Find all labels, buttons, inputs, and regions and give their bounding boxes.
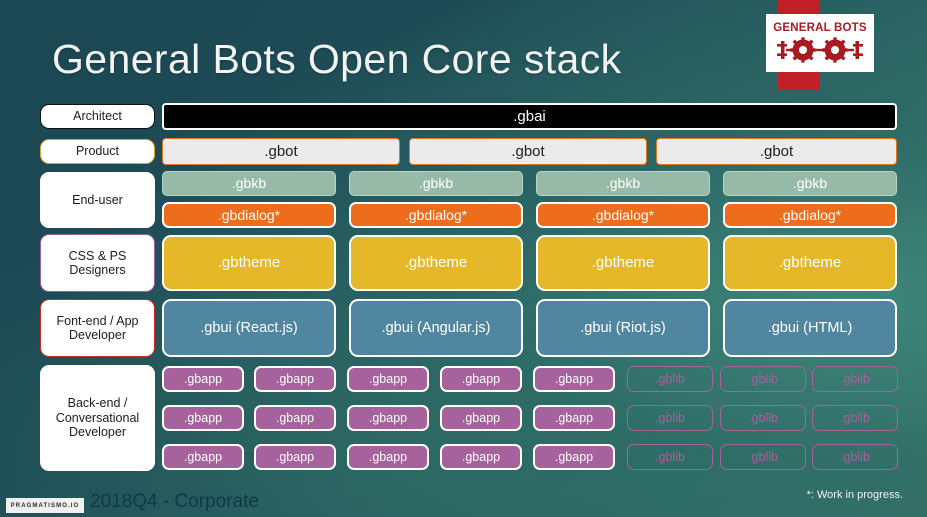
tier-label: .gbdialog* [218, 207, 280, 223]
tier-label: .gbapp [369, 411, 407, 425]
tier-label: .gbtheme [405, 254, 468, 271]
role-label-text: Back-end /ConversationalDeveloper [56, 396, 139, 439]
tier-gbui-riot: .gbui (Riot.js) [536, 299, 710, 357]
tier-label: .gbapp [184, 450, 222, 464]
tier-gbdialog: .gbdialog* [162, 202, 336, 228]
tier-label: .gbkb [419, 175, 453, 191]
tier-label: .gbai [513, 108, 546, 125]
tier-label: .gblib [655, 450, 685, 464]
general-bots-logo: GENERAL BOTS [766, 14, 874, 72]
tier-gbapp: .gbapp [533, 444, 615, 470]
tier-gbtheme: .gbtheme [536, 235, 710, 291]
tier-label: .gbapp [276, 372, 314, 386]
tier-label: .gbui (HTML) [768, 320, 853, 337]
tier-gbui-html: .gbui (HTML) [723, 299, 897, 357]
tier-label: .gblib [748, 372, 778, 386]
tier-label: .gbot [264, 143, 297, 160]
tier-label: .gbkb [232, 175, 266, 191]
tier-gblib: .gblib [627, 405, 713, 431]
tier-gbtheme: .gbtheme [723, 235, 897, 291]
tier-label: .gblib [655, 411, 685, 425]
role-label-text: Font-end / AppDeveloper [56, 314, 138, 343]
role-label-text: CSS & PSDesigners [69, 249, 127, 278]
tier-label: .gbapp [462, 411, 500, 425]
tier-gbapp: .gbapp [347, 405, 429, 431]
tier-gbot: .gbot [656, 138, 897, 165]
logo-wordmark: GENERAL BOTS [773, 23, 867, 35]
role-label-backend-conversational-developer: Back-end /ConversationalDeveloper [40, 365, 155, 471]
tier-label: .gbui (React.js) [200, 320, 298, 337]
tier-gbkb: .gbkb [536, 171, 710, 196]
tier-gbapp: .gbapp [347, 444, 429, 470]
role-label-architect: Architect [40, 104, 155, 129]
tier-gblib: .gblib [720, 366, 806, 392]
tier-gbapp: .gbapp [162, 366, 244, 392]
tier-gbapp: .gbapp [440, 366, 522, 392]
tier-gbui-react: .gbui (React.js) [162, 299, 336, 357]
tier-gbui-angular: .gbui (Angular.js) [349, 299, 523, 357]
tier-gbapp: .gbapp [440, 405, 522, 431]
tier-label: .gbapp [369, 372, 407, 386]
tier-label: .gbtheme [592, 254, 655, 271]
slide-canvas: GENERAL BOTS [0, 0, 927, 517]
tier-gbdialog: .gbdialog* [723, 202, 897, 228]
tier-label: .gbot [760, 143, 793, 160]
tier-gblib: .gblib [812, 366, 898, 392]
tier-label: .gblib [655, 372, 685, 386]
tier-label: .gbapp [369, 450, 407, 464]
role-label-product: Product [40, 139, 155, 164]
tier-label: .gblib [840, 411, 870, 425]
page-title: General Bots Open Core stack [52, 36, 622, 83]
tier-label: .gbkb [793, 175, 827, 191]
tier-gblib: .gblib [627, 444, 713, 470]
footer-label: 2018Q4 - Corporate [90, 491, 259, 513]
pragmatismo-logo: PRAGMATISMO.IO [6, 498, 84, 513]
tier-label: .gbapp [555, 450, 593, 464]
tier-label: .gblib [840, 372, 870, 386]
tier-label: .gbdialog* [779, 207, 841, 223]
tier-gblib: .gblib [720, 405, 806, 431]
tier-gbapp: .gbapp [347, 366, 429, 392]
tier-gbtheme: .gbtheme [162, 235, 336, 291]
tier-gbapp: .gbapp [254, 405, 336, 431]
tier-label: .gblib [748, 450, 778, 464]
tier-gblib: .gblib [812, 444, 898, 470]
tier-label: .gbtheme [218, 254, 281, 271]
tier-label: .gbapp [184, 411, 222, 425]
tier-gblib: .gblib [812, 405, 898, 431]
tier-gbapp: .gbapp [440, 444, 522, 470]
tier-gbapp: .gbapp [162, 444, 244, 470]
tier-label: .gbapp [276, 411, 314, 425]
tier-label: .gblib [748, 411, 778, 425]
tier-gbapp: .gbapp [254, 366, 336, 392]
tier-label: .gbdialog* [405, 207, 467, 223]
role-label-text: Product [76, 144, 119, 158]
tier-gbkb: .gbkb [349, 171, 523, 196]
gears-icon [777, 37, 863, 63]
role-label-css-ps-designers: CSS & PSDesigners [40, 234, 155, 292]
tier-label: .gbui (Riot.js) [580, 320, 665, 337]
tier-gbot: .gbot [162, 138, 400, 165]
tier-gbapp: .gbapp [254, 444, 336, 470]
role-label-end-user: End-user [40, 172, 155, 228]
tier-gbai: .gbai [162, 103, 897, 130]
tier-label: .gblib [840, 450, 870, 464]
tier-label: .gbapp [462, 450, 500, 464]
tier-label: .gbapp [184, 372, 222, 386]
work-in-progress-note: *: Work in progress. [807, 489, 903, 501]
tier-gbkb: .gbkb [162, 171, 336, 196]
tier-gbdialog: .gbdialog* [536, 202, 710, 228]
role-label-frontend-app-developer: Font-end / AppDeveloper [40, 299, 155, 357]
tier-gbot: .gbot [409, 138, 647, 165]
role-label-text: Architect [73, 109, 122, 123]
tier-label: .gbot [511, 143, 544, 160]
tier-gbkb: .gbkb [723, 171, 897, 196]
tier-gbdialog: .gbdialog* [349, 202, 523, 228]
pragmatismo-wordmark: PRAGMATISMO.IO [11, 503, 80, 509]
tier-label: .gbapp [555, 372, 593, 386]
tier-gbapp: .gbapp [533, 405, 615, 431]
tier-gbtheme: .gbtheme [349, 235, 523, 291]
tier-gblib: .gblib [720, 444, 806, 470]
tier-gbapp: .gbapp [162, 405, 244, 431]
tier-label: .gbui (Angular.js) [382, 320, 491, 337]
tier-label: .gbtheme [779, 254, 842, 271]
tier-label: .gbapp [462, 372, 500, 386]
tier-label: .gbapp [276, 450, 314, 464]
role-label-text: End-user [72, 193, 123, 207]
tier-gbapp: .gbapp [533, 366, 615, 392]
tier-gblib: .gblib [627, 366, 713, 392]
tier-label: .gbapp [555, 411, 593, 425]
tier-label: .gbdialog* [592, 207, 654, 223]
tier-label: .gbkb [606, 175, 640, 191]
